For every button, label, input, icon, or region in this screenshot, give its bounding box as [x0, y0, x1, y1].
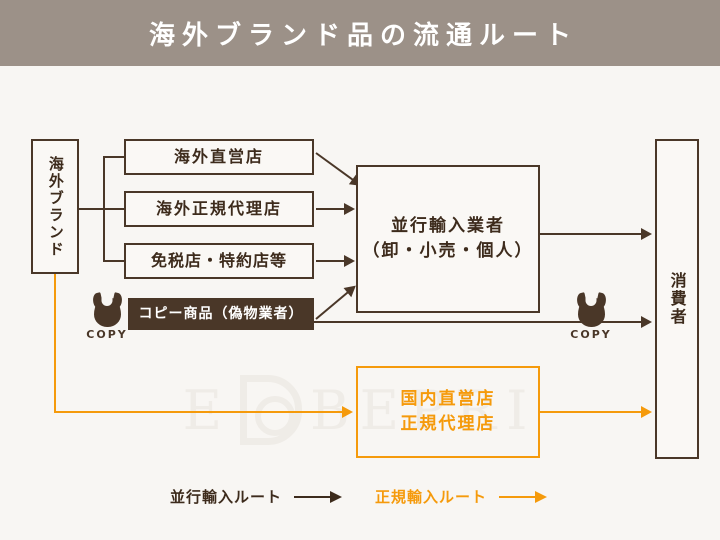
line-bus-to-agency — [103, 208, 126, 210]
copy-bag-icon — [578, 297, 605, 327]
legend-item-parallel-route: 並行輸入ルート — [170, 486, 340, 507]
arrow-head-icon — [342, 406, 353, 418]
arrow-head-icon — [641, 228, 652, 240]
legend-item-parallel-route-label: 並行輸入ルート — [170, 486, 282, 507]
node-parallel-importer[interactable]: 並行輸入業者 （卸・小売・個人） — [356, 165, 540, 313]
node-copy-goods[interactable]: コピー商品（偽物業者） — [128, 298, 314, 330]
arrow-dutyfree-to-parallel — [316, 260, 346, 262]
node-overseas-authorized-agency[interactable]: 海外正規代理店 — [124, 191, 314, 227]
header-bar: 海外ブランド品の流通ルート — [0, 0, 720, 66]
arrow-domestic-to-consumer — [540, 411, 643, 413]
copy-bag-caption-left: COPY — [84, 328, 130, 341]
arrow-head-icon — [344, 203, 355, 215]
copy-bag-icon — [94, 297, 121, 327]
node-overseas-brand[interactable]: 海外ブランド — [31, 139, 79, 274]
arrow-head-icon — [344, 255, 355, 267]
node-domestic-store-line2: 正規代理店 — [401, 412, 496, 437]
node-overseas-direct-store[interactable]: 海外直営店 — [124, 139, 314, 175]
node-consumer[interactable]: 消費者 — [655, 139, 699, 459]
arrow-head-icon — [641, 406, 652, 418]
legend-arrow-dark-icon — [294, 496, 340, 498]
node-domestic-store[interactable]: 国内直営店 正規代理店 — [356, 366, 540, 458]
arrow-agency-to-parallel — [316, 208, 346, 210]
node-overseas-brand-label: 海外ブランド — [44, 156, 66, 258]
legend-arrow-orange-icon — [499, 496, 545, 498]
node-duty-free-store[interactable]: 免税店・特約店等 — [124, 243, 314, 279]
copy-bag-notch-icon — [102, 297, 113, 306]
watermark-logo-icon — [240, 375, 302, 445]
node-duty-free-store-label: 免税店・特約店等 — [151, 249, 287, 272]
line-bus-to-dutyfree — [103, 260, 126, 262]
copy-bag-notch-icon — [586, 297, 597, 306]
line-brand-down-orange — [54, 274, 56, 412]
node-parallel-importer-line2: （卸・小売・個人） — [363, 239, 534, 264]
copy-bag-icon-right: COPY — [568, 297, 614, 341]
copy-bag-caption-right: COPY — [568, 328, 614, 341]
node-domestic-store-line1: 国内直営店 — [401, 387, 496, 412]
arrow-brand-to-domestic — [54, 411, 344, 413]
node-copy-goods-label: コピー商品（偽物業者） — [139, 304, 304, 324]
diagram-root: 海外ブランド品の流通ルート E BEPRI 海外ブランド 海外直営店 — [0, 0, 720, 540]
node-consumer-label: 消費者 — [665, 272, 688, 326]
copy-bag-icon-left: COPY — [84, 297, 130, 341]
legend: 並行輸入ルート 正規輸入ルート — [0, 486, 720, 526]
line-bus-to-direct — [103, 156, 126, 158]
arrow-parallel-to-consumer — [540, 233, 643, 235]
arrow-direct-to-parallel — [315, 152, 353, 181]
line-brand-to-bus — [79, 208, 105, 210]
watermark-text-left: E — [183, 379, 232, 442]
page-title: 海外ブランド品の流通ルート — [142, 15, 578, 52]
node-overseas-authorized-agency-label: 海外正規代理店 — [156, 197, 282, 220]
node-overseas-direct-store-label: 海外直営店 — [174, 145, 264, 168]
legend-item-official-route: 正規輸入ルート — [375, 486, 545, 507]
arrow-copy-to-parallel — [315, 291, 348, 320]
legend-item-official-route-label: 正規輸入ルート — [375, 486, 487, 507]
arrow-head-icon — [641, 316, 652, 328]
node-parallel-importer-line1: 並行輸入業者 — [363, 214, 534, 239]
